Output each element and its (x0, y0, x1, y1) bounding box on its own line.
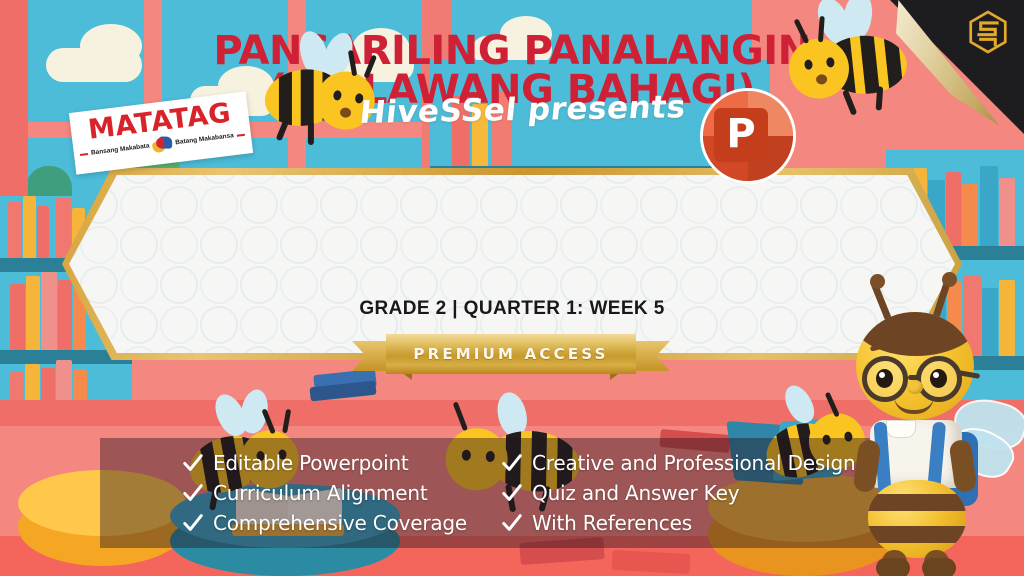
premium-access-ribbon: PREMIUM ACCESS (352, 334, 670, 378)
bee-antenna (363, 55, 377, 79)
book-spine (23, 196, 36, 258)
book-spine (999, 178, 1015, 246)
bee-mascot (826, 272, 1022, 576)
panel-white-face (69, 175, 955, 353)
feature-item: Editable Powerpoint (182, 451, 467, 475)
feature-label: Curriculum Alignment (213, 481, 428, 505)
slide-canvas: PANSARILING PANALANGIN (IKALAWANG BAHAGI… (0, 0, 1024, 576)
features-column-left: Editable Powerpoint Curriculum Alignment… (182, 451, 467, 535)
feature-item: Comprehensive Coverage (182, 511, 467, 535)
matatag-rule (80, 153, 88, 156)
feature-item: Curriculum Alignment (182, 481, 467, 505)
features-band: Editable Powerpoint Curriculum Alignment… (100, 438, 905, 548)
feature-label: Creative and Professional Designs (532, 451, 866, 475)
bee-antenna (282, 409, 291, 434)
powerpoint-circle: P (700, 88, 796, 184)
feature-item: Creative and Professional Designs (501, 451, 866, 475)
feature-label: Comprehensive Coverage (213, 511, 467, 535)
bee-leg (308, 121, 314, 145)
feature-item: Quiz and Answer Key (501, 481, 866, 505)
check-icon (182, 452, 204, 474)
mascot-stripe (868, 526, 966, 543)
mascot-foot (876, 558, 910, 576)
panel-pattern (69, 175, 955, 353)
feature-label: With References (532, 511, 692, 535)
book-spine (37, 206, 49, 258)
cartoon-bee (255, 28, 387, 151)
book-spine (980, 166, 998, 246)
matatag-emblem-icon (152, 136, 174, 153)
check-icon (182, 482, 204, 504)
mascot-stripe (868, 494, 966, 511)
ribbon-band: PREMIUM ACCESS (386, 334, 636, 374)
check-icon (501, 452, 523, 474)
matatag-rule (237, 133, 245, 136)
mascot-antenna-tip (870, 274, 885, 289)
check-icon (182, 512, 204, 534)
mascot-nose (907, 380, 923, 394)
hivessel-hex-logo (968, 10, 1008, 54)
page-curl-corner (890, 0, 1024, 134)
powerpoint-icon[interactable]: P (700, 88, 796, 184)
mascot-pupil (876, 369, 893, 388)
book-spine (8, 202, 22, 258)
bee-antenna (794, 18, 810, 44)
hivessel-presents-text: HiveSSel presents (358, 89, 688, 131)
mascot-pupil (930, 369, 947, 388)
check-icon (501, 512, 523, 534)
matatag-tagline-left: Bansang Makabata (91, 143, 150, 157)
mascot-collar (886, 420, 916, 438)
features-column-right: Creative and Professional Designs Quiz a… (501, 451, 866, 535)
book-flat (612, 550, 691, 574)
mascot-antenna-tip (942, 272, 957, 287)
emblem-hand-red (156, 138, 165, 148)
powerpoint-letter: P (714, 108, 768, 162)
matatag-tagline-right: Batang Makabansa (175, 132, 234, 146)
bee-antenna (453, 401, 468, 431)
ribbon-label: PREMIUM ACCESS (413, 345, 608, 363)
feature-label: Quiz and Answer Key (532, 481, 739, 505)
book-spine (962, 184, 978, 246)
hex-logo-icon (968, 10, 1008, 54)
mascot-abdomen (868, 480, 966, 558)
feature-label: Editable Powerpoint (213, 451, 409, 475)
mascot-foot (922, 558, 956, 576)
feature-item: With References (501, 511, 866, 535)
bee-stripe (859, 36, 881, 94)
check-icon (501, 482, 523, 504)
